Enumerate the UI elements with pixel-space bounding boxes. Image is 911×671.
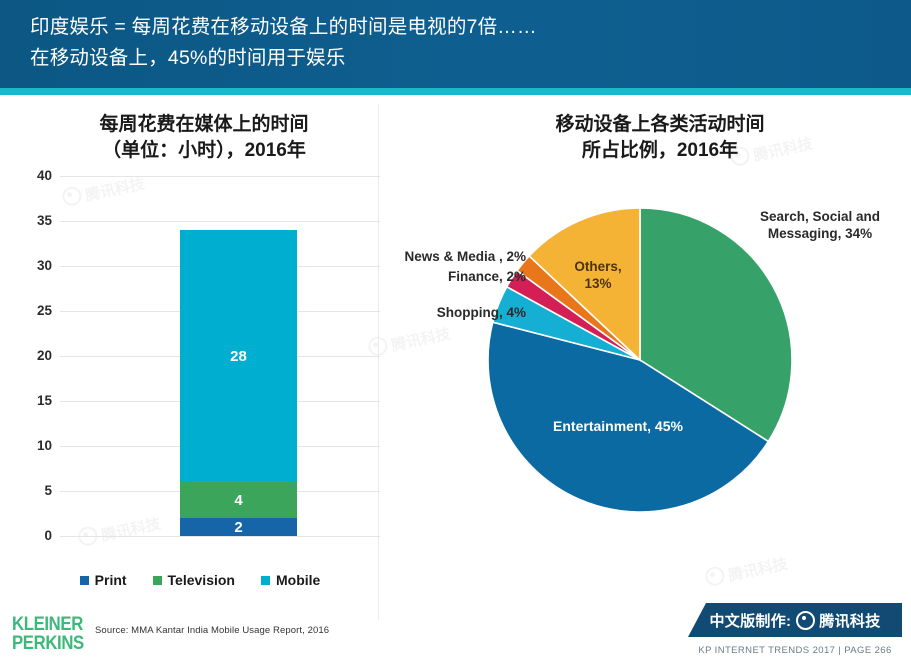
logo-line-2: PERKINS — [12, 633, 84, 654]
bar-chart: 05101520253035402428 — [20, 176, 380, 546]
y-axis-tick-label: 30 — [20, 258, 52, 273]
pie-chart-title: 移动设备上各类活动时间 所占比例，2016年 — [430, 112, 890, 164]
bar-plot-area: 05101520253035402428 — [60, 176, 380, 536]
legend-label: Television — [168, 572, 235, 588]
page-title: 印度娱乐 = 每周花费在移动设备上的时间是电视的7倍…… 在移动设备上，45%的… — [30, 12, 890, 74]
legend-item-television[interactable]: Television — [153, 572, 235, 588]
logo-line-1: KLEINER — [12, 614, 83, 635]
y-axis-tick-label: 40 — [20, 168, 52, 183]
watermark-logo-icon — [704, 565, 727, 588]
y-axis-tick-label: 35 — [20, 213, 52, 228]
bar-chart-title: 每周花费在媒体上的时间 （单位：小时），2016年 — [34, 112, 374, 164]
pie-label-finance: Finance, 2% — [386, 268, 526, 285]
kleiner-perkins-logo: KLEINERPERKINS — [12, 615, 84, 653]
tencent-watermark: 腾讯科技 — [704, 552, 790, 591]
y-axis-tick-label: 0 — [20, 528, 52, 543]
gridline — [60, 536, 380, 537]
source-note: Source: MMA Kantar India Mobile Usage Re… — [95, 625, 329, 636]
bar-chart-legend: PrintTelevisionMobile — [20, 568, 380, 592]
legend-swatch-icon — [261, 576, 270, 585]
legend-swatch-icon — [153, 576, 162, 585]
legend-label: Print — [95, 572, 127, 588]
pie-label-search-social-and-messaging: Search, Social and Messaging, 34% — [730, 208, 910, 242]
y-axis-tick-label: 5 — [20, 483, 52, 498]
y-axis-tick-label: 10 — [20, 438, 52, 453]
legend-item-print[interactable]: Print — [80, 572, 127, 588]
watermark-label: 腾讯科技 — [727, 556, 789, 585]
bar-segment-mobile: 28 — [180, 230, 297, 482]
tencent-logo-icon — [796, 611, 815, 630]
bar-value-label: 4 — [234, 492, 242, 509]
pie-label-shopping: Shopping, 4% — [386, 304, 526, 321]
y-axis-tick-label: 15 — [20, 393, 52, 408]
stacked-bar: 2428 — [180, 176, 297, 536]
legend-swatch-icon — [80, 576, 89, 585]
pie-chart: Search, Social and Messaging, 34%Enterta… — [400, 180, 900, 540]
bar-value-label: 2 — [234, 519, 242, 536]
header-accent-line — [0, 88, 911, 95]
slide: 印度娱乐 = 每周花费在移动设备上的时间是电视的7倍…… 在移动设备上，45%的… — [0, 0, 911, 671]
pie-label-news-media: News & Media , 2% — [386, 248, 526, 265]
bar-value-label: 28 — [230, 348, 247, 365]
y-axis-tick-label: 20 — [20, 348, 52, 363]
tencent-credit-badge: 中文版制作: 腾讯科技 — [688, 603, 902, 637]
bar-segment-print: 2 — [180, 518, 297, 536]
y-axis-tick-label: 25 — [20, 303, 52, 318]
legend-item-mobile[interactable]: Mobile — [261, 572, 320, 588]
legend-label: Mobile — [276, 572, 320, 588]
bar-segment-television: 4 — [180, 482, 297, 518]
footer-meta: KP INTERNET TRENDS 2017 | PAGE 266 — [688, 645, 902, 656]
tencent-prefix-label: 中文版制作: — [710, 610, 792, 631]
pie-label-others: Others, 13% — [558, 258, 638, 292]
pie-label-entertainment: Entertainment, 45% — [518, 418, 718, 435]
tencent-brand-label: 腾讯科技 — [819, 610, 880, 631]
